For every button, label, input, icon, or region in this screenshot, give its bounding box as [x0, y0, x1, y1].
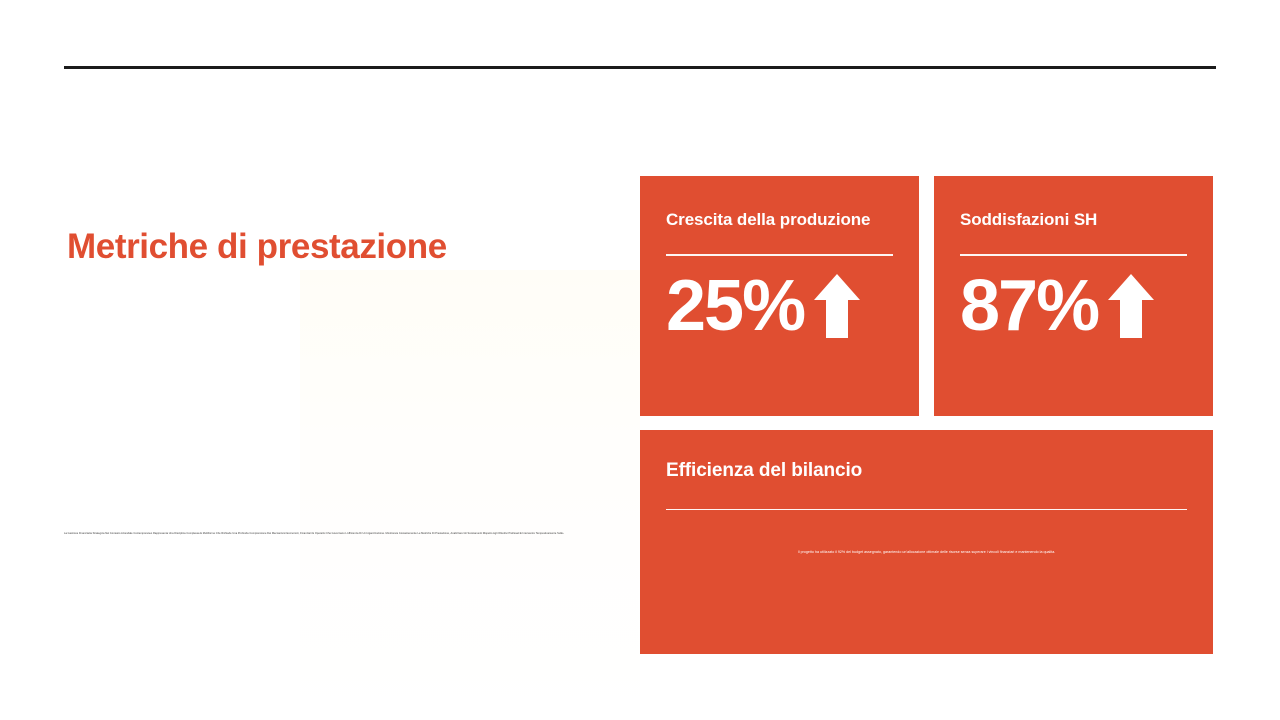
- left-body-note: La Gestione Finanziaria Strategica Nel C…: [64, 532, 564, 536]
- metric-card-body-text: Il progetto ha utilizzato il 92% del bud…: [666, 550, 1187, 555]
- metric-card-title: Crescita della produzione: [666, 176, 893, 230]
- metric-card-divider: [666, 509, 1187, 511]
- metric-value-row: 87%: [960, 270, 1187, 342]
- metric-value: 25%: [666, 270, 804, 342]
- metric-value: 87%: [960, 270, 1098, 342]
- metric-card-divider: [960, 254, 1187, 256]
- metric-card-title: Soddisfazioni SH: [960, 176, 1187, 230]
- metric-value-row: 25%: [666, 270, 893, 342]
- header-divider-rule: [64, 66, 1216, 69]
- metric-card-divider: [666, 254, 893, 256]
- arrow-up-icon: [1104, 270, 1158, 342]
- metric-card-crescita-produzione[interactable]: Crescita della produzione 25%: [640, 176, 919, 416]
- arrow-up-icon: [810, 270, 864, 342]
- background-wash: [300, 270, 640, 720]
- metric-card-soddisfazioni-sh[interactable]: Soddisfazioni SH 87%: [934, 176, 1213, 416]
- metric-card-title: Efficienza del bilancio: [666, 430, 1187, 483]
- metric-card-efficienza-bilancio[interactable]: Efficienza del bilancio Il progetto ha u…: [640, 430, 1213, 654]
- page-title: Metriche di prestazione: [67, 227, 587, 267]
